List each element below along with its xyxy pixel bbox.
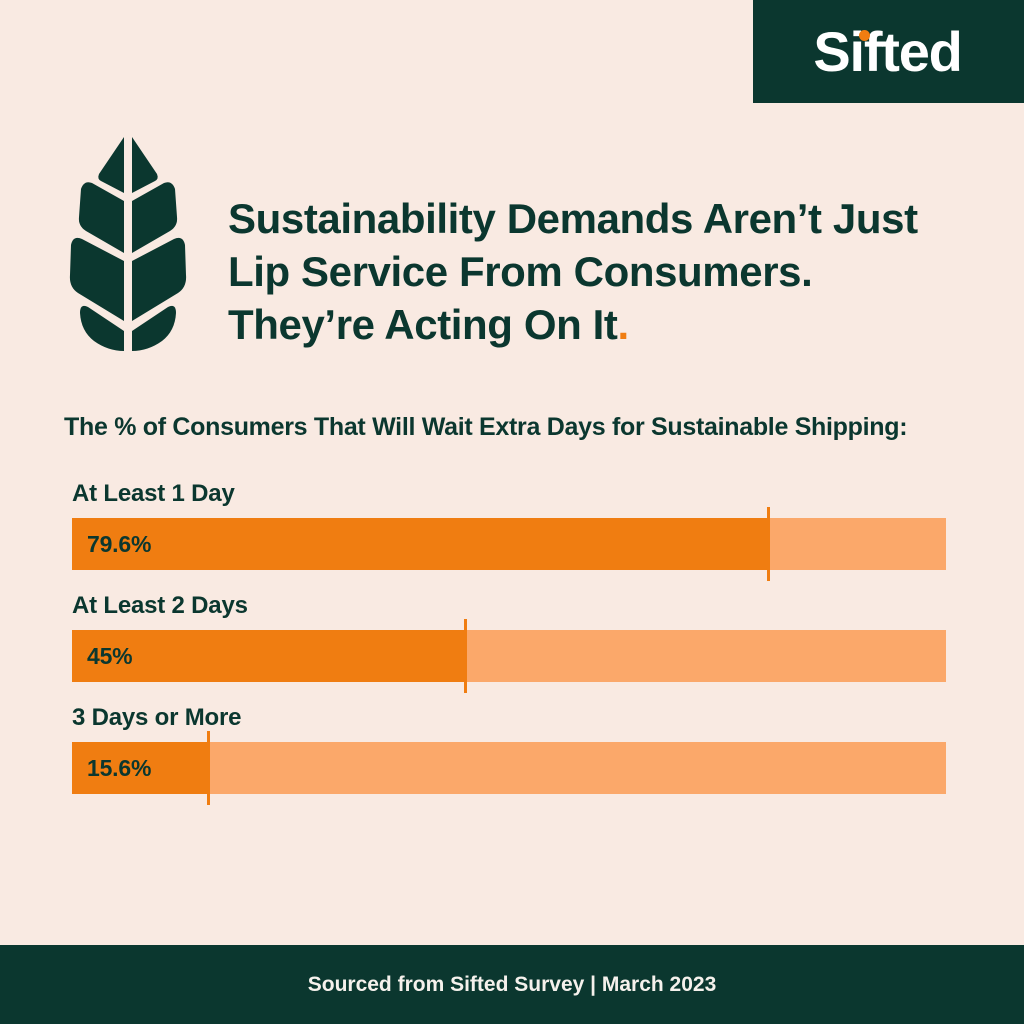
headline-accent-period: . [617,301,628,348]
bar-fill: 45% [72,630,465,682]
leaf-icon [68,135,188,353]
headline-line-1: Sustainability Demands Aren’t Just [228,192,968,245]
bar-label: 3 Days or More [72,704,946,732]
sifted-wordmark: Sifted [813,24,963,80]
bar-value: 79.6% [72,531,151,558]
bar-chart: At Least 1 Day 79.6% At Least 2 Days 45%… [72,480,946,816]
bar-tick-marker [767,507,770,581]
bar-track: 45% [72,630,946,682]
bar-row: At Least 1 Day 79.6% [72,480,946,570]
sifted-logo-badge: Sifted [753,0,1024,103]
headline-line-2: Lip Service From Consumers. [228,245,968,298]
bar-tick-marker [207,731,210,805]
bar-label: At Least 1 Day [72,480,946,508]
bar-fill: 79.6% [72,518,768,570]
page-title: Sustainability Demands Aren’t Just Lip S… [228,192,968,351]
bar-value: 15.6% [72,755,151,782]
chart-subtitle: The % of Consumers That Will Wait Extra … [64,413,907,442]
bar-tick-marker [464,619,467,693]
bar-value: 45% [72,643,132,670]
bar-track: 15.6% [72,742,946,794]
bar-fill: 15.6% [72,742,208,794]
bar-track: 79.6% [72,518,946,570]
bar-label: At Least 2 Days [72,592,946,620]
infographic-canvas: Sifted Sustainability Demands Aren’t Jus… [0,0,1024,1024]
headline-line-3: They’re Acting On It. [228,298,968,351]
logo-accent-dot-icon [859,30,870,41]
bar-row: 3 Days or More 15.6% [72,704,946,794]
footer-source-text: Sourced from Sifted Survey | March 2023 [308,973,717,997]
footer-band: Sourced from Sifted Survey | March 2023 [0,945,1024,1024]
sifted-wordmark-text: Sifted [813,20,961,83]
bar-row: At Least 2 Days 45% [72,592,946,682]
headline-line-3-text: They’re Acting On It [228,301,617,348]
